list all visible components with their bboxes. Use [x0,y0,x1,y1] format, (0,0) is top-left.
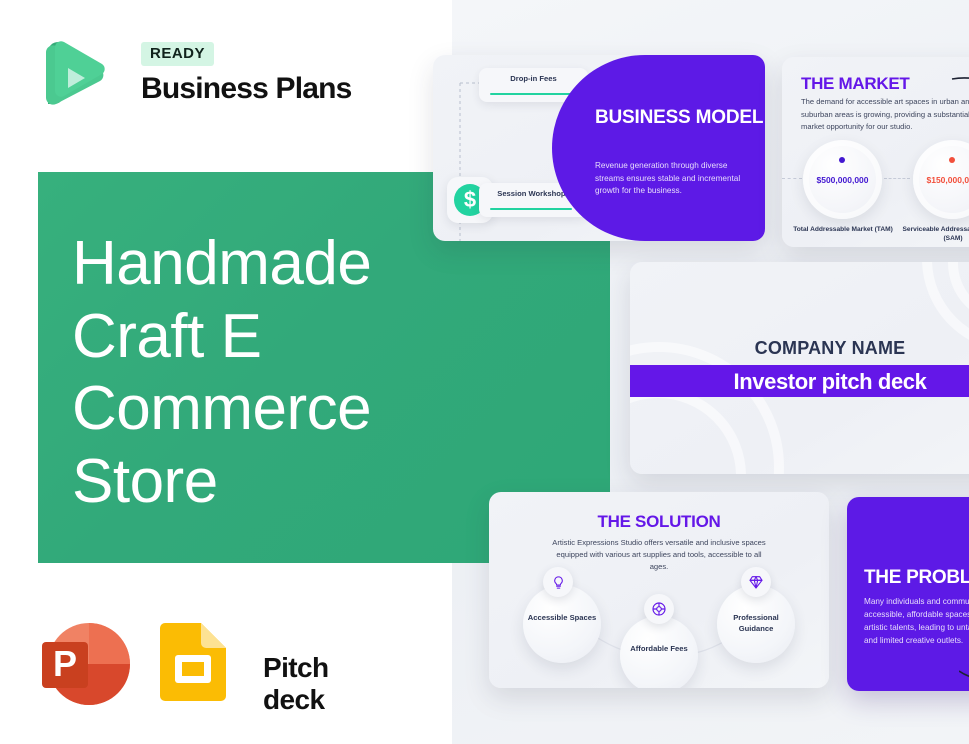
solution-node-label: Professional Guidance [717,612,795,634]
solution-node-label: Affordable Fees [620,643,698,654]
market-metric-disc: $150,000,000 [913,140,969,219]
accent-bar [490,208,572,211]
play-logo-icon [38,36,110,114]
pitch-deck-subtitle: Investor pitch deck [630,369,969,395]
solution-node-disc: Accessible Spaces [523,585,601,663]
ready-badge: READY [141,42,214,66]
problem-body: Many individuals and communities lack ac… [864,595,969,648]
poster-canvas: READY Business Plans Handmade Craft E Co… [0,0,969,744]
target-icon [644,594,674,624]
svg-text:P: P [53,643,77,684]
powerpoint-icon: P [38,616,132,708]
market-metric-disc: $500,000,000 [803,140,882,219]
market-metric-dot [949,157,955,163]
market-body: The demand for accessible art spaces in … [801,96,969,134]
business-model-title: BUSINESS MODEL [595,107,763,129]
solution-node-disc: Affordable Fees [620,616,698,688]
market-dash-mid [884,178,910,179]
slide-the-solution[interactable]: THE SOLUTION Artistic Expressions Studio… [489,492,829,688]
market-dash-left [782,178,802,179]
market-metric-caption: Serviceable Addressable Market (SAM) [898,225,969,243]
google-slides-icon [156,622,230,702]
solution-node-label: Accessible Spaces [523,612,601,623]
problem-decor-arrow-icon [959,657,969,691]
slide-title-pitch-deck[interactable]: COMPANY NAME Investor pitch deck [630,262,969,474]
company-name: COMPANY NAME [630,338,969,359]
market-title: THE MARKET [801,74,909,94]
business-model-item-label: Drop-in Fees [479,74,588,83]
problem-title: THE PROBLEM [864,567,969,589]
page-title: Handmade Craft E Commerce Store [72,228,492,518]
pitch-deck-band: Investor pitch deck [630,365,969,397]
lightbulb-icon [543,567,573,597]
slide-business-model[interactable]: $ Drop-in Fees Session Workshops Commiss… [433,55,765,241]
slide-the-problem[interactable]: THE PROBLEM Many individuals and communi… [847,497,969,691]
business-model-purple-panel: BUSINESS MODEL Revenue generation throug… [552,55,765,241]
brand-wordmark: READY Business Plans [141,42,352,106]
market-metric-value: $500,000,000 [803,175,882,185]
solution-body: Artistic Expressions Studio offers versa… [551,537,767,573]
business-model-body: Revenue generation through diverse strea… [595,160,747,198]
market-metric-dot [839,157,845,163]
accent-bar [490,93,572,96]
market-metric-caption: Total Addressable Market (TAM) [788,225,898,234]
slide-the-market[interactable]: THE MARKET The demand for accessible art… [782,57,969,247]
market-metric-value: $150,000,000 [913,175,969,185]
solution-title: THE SOLUTION [489,512,829,532]
diamond-icon [741,567,771,597]
product-label: Pitch deck [263,652,328,716]
brand-name: Business Plans [141,72,352,106]
brand-header: READY Business Plans [38,34,368,124]
